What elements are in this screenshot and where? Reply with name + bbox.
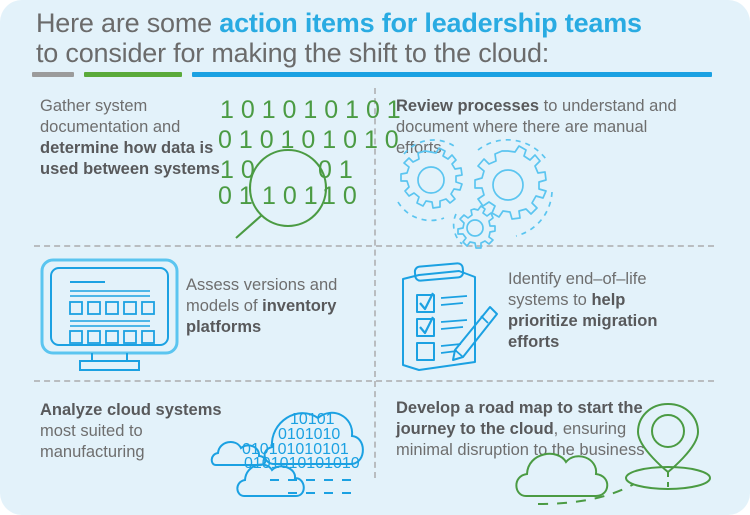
svg-text:0 1: 0 1 <box>318 156 353 184</box>
rule-segment-gray <box>32 72 74 77</box>
divider-horizontal-2 <box>34 380 714 382</box>
page-title-line-2: to consider for making the shift to the … <box>36 38 708 68</box>
cloud-binary-icon: 10101 0101010 010101010101 0101010101010 <box>214 392 374 500</box>
svg-text:1 0 1: 1 0 1 <box>262 182 318 210</box>
title-plain-text: Here are some <box>36 8 219 38</box>
svg-text:1 0: 1 0 <box>322 182 357 210</box>
page-title-line-1: Here are some action items for leadershi… <box>36 8 708 38</box>
map-pin-route-cloud-icon <box>508 398 723 508</box>
cell-gather-system-documentation: Gather system documentation and determin… <box>40 96 225 180</box>
title-accent-text: action items for leadership teams <box>219 8 642 38</box>
cell-1-text-plain: Gather system documentation and <box>40 97 180 136</box>
rule-segment-blue <box>192 72 712 77</box>
cell-1-text-bold: determine how data is used between syste… <box>40 139 220 178</box>
svg-text:0101010101010: 0101010101010 <box>244 455 360 472</box>
svg-text:1 0 1 0 1 0 1 0 1: 1 0 1 0 1 0 1 0 1 <box>220 96 401 124</box>
cell-identify-end-of-life: Identify end–of–life systems to help pri… <box>508 269 688 353</box>
monitor-inventory-icon <box>40 258 180 370</box>
header: Here are some action items for leadershi… <box>36 8 708 68</box>
rule-spacer-2 <box>182 72 192 77</box>
header-rule <box>32 71 712 77</box>
cell-analyze-cloud-systems: Analyze cloud systems most suited to man… <box>40 400 230 463</box>
divider-horizontal-1 <box>34 245 714 247</box>
infographic-canvas: Here are some action items for leadershi… <box>0 0 750 515</box>
rule-spacer-1 <box>74 72 84 77</box>
cell-4-text-plain: Identify end–of–life systems to <box>508 270 647 309</box>
gears-icon <box>396 140 596 245</box>
rule-segment-green <box>84 72 182 77</box>
cell-5-text-bold: Analyze cloud systems <box>40 401 222 419</box>
svg-text:1 0: 1 0 <box>220 156 255 184</box>
cell-2-text-bold: Review processes <box>396 97 539 115</box>
cell-assess-versions: Assess versions and models of inventory … <box>186 275 366 338</box>
cell-5-text-plain: most suited to manufacturing <box>40 422 145 461</box>
clipboard-checklist-pencil-icon <box>393 257 501 373</box>
svg-text:0 1 0 1 0 1 0 1 0: 0 1 0 1 0 1 0 1 0 <box>218 126 399 154</box>
svg-text:0 1: 0 1 <box>218 182 253 210</box>
binary-magnifier-icon: 1 0 1 0 1 0 1 0 1 0 1 0 1 0 1 0 1 0 1 0 … <box>218 96 360 236</box>
